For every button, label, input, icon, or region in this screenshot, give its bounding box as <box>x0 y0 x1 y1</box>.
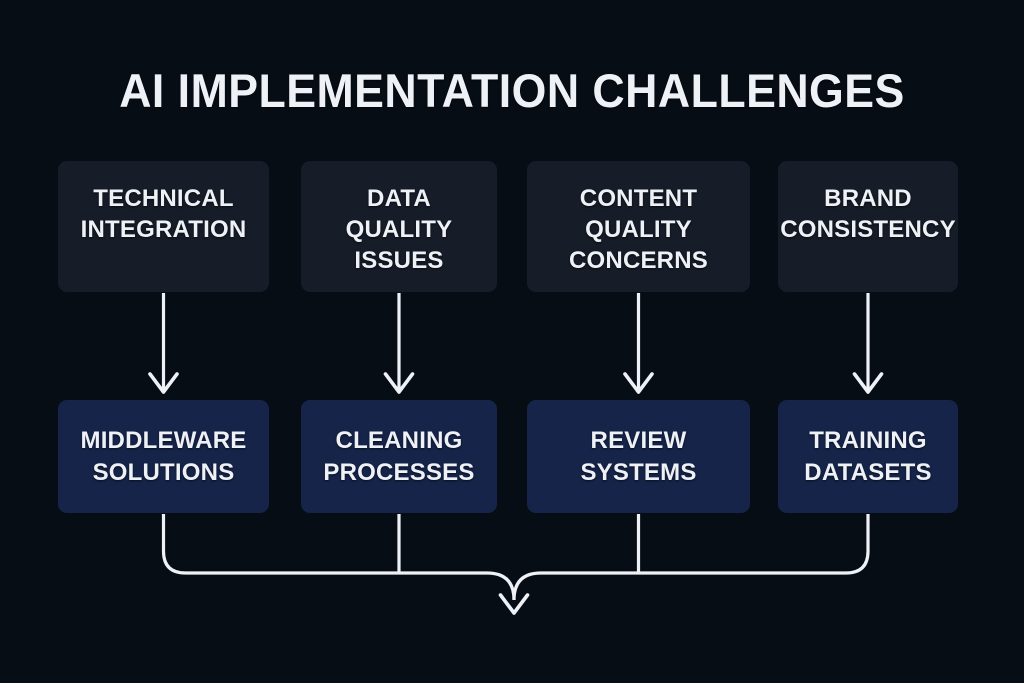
challenge-box-content-quality-concerns[interactable]: CONTENT QUALITY CONCERNS <box>527 161 750 292</box>
arrow-brand-consistency-to-training-datasets <box>855 293 882 392</box>
diagram-canvas: AI IMPLEMENTATION CHALLENGES TECHNICAL I… <box>0 0 1024 683</box>
challenge-label-data-quality-issues: DATA QUALITY ISSUES <box>346 183 453 276</box>
merge-bus-connector <box>164 514 869 613</box>
arrowhead-down-icon <box>386 374 413 392</box>
solution-box-training-datasets[interactable]: TRAINING DATASETS <box>778 400 958 513</box>
challenge-box-brand-consistency[interactable]: BRAND CONSISTENCY <box>778 161 958 292</box>
arrowhead-down-icon <box>501 595 528 613</box>
arrowhead-down-icon <box>855 374 882 392</box>
solution-label-middleware-solutions: MIDDLEWARE SOLUTIONS <box>81 425 247 489</box>
challenge-label-content-quality-concerns: CONTENT QUALITY CONCERNS <box>569 183 708 276</box>
arrow-data-quality-issues-to-cleaning-processes <box>386 293 413 392</box>
solution-label-cleaning-processes: CLEANING PROCESSES <box>323 425 474 489</box>
page-title: AI IMPLEMENTATION CHALLENGES <box>26 62 999 120</box>
arrow-content-quality-concerns-to-review-systems <box>625 293 652 392</box>
arrowhead-down-icon <box>150 374 177 392</box>
solution-box-cleaning-processes[interactable]: CLEANING PROCESSES <box>301 400 497 513</box>
challenge-box-data-quality-issues[interactable]: DATA QUALITY ISSUES <box>301 161 497 292</box>
arrow-technical-integration-to-middleware-solutions <box>150 293 177 392</box>
solution-label-training-datasets: TRAINING DATASETS <box>804 425 931 489</box>
challenge-label-brand-consistency: BRAND CONSISTENCY <box>780 183 956 245</box>
solution-box-review-systems[interactable]: REVIEW SYSTEMS <box>527 400 750 513</box>
challenge-label-technical-integration: TECHNICAL INTEGRATION <box>81 183 247 245</box>
challenge-box-technical-integration[interactable]: TECHNICAL INTEGRATION <box>58 161 269 292</box>
arrowhead-down-icon <box>625 374 652 392</box>
solution-label-review-systems: REVIEW SYSTEMS <box>580 425 696 489</box>
solution-box-middleware-solutions[interactable]: MIDDLEWARE SOLUTIONS <box>58 400 269 513</box>
